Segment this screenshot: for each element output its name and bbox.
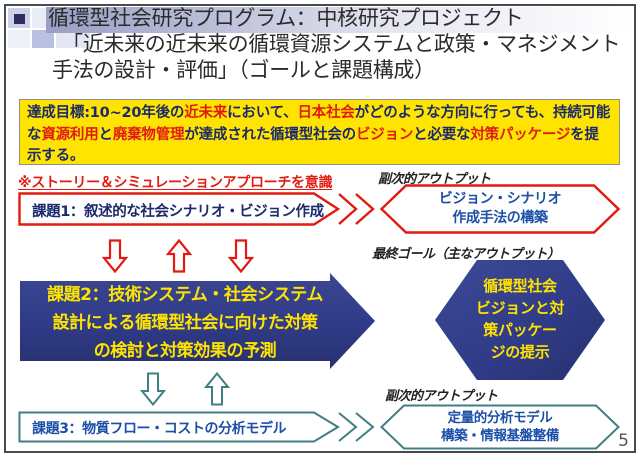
goal-line-3: 策パッケー (483, 321, 557, 339)
task2-label: 課題2：技術システム・社会システム 設計による循環型社会に向けた対策 の検討と対… (30, 281, 340, 365)
approach-note: ※ストーリー＆シミュレーションアプローチを意識 (18, 172, 332, 192)
goal-segment-6: と (99, 127, 113, 143)
goal-line-2: ビジョンと対 (476, 299, 564, 317)
output1-line-1: ビジョン・シナリオ (439, 191, 561, 207)
goal-segment-5: 資源利用 (41, 127, 98, 143)
task2-line-1: 課題2：技術システム・社会システム (47, 285, 323, 305)
goal-line-4: ジの提示 (491, 343, 550, 361)
output3-label: 定量的分析モデル 構築・情報基盤整備 (398, 409, 602, 445)
chevron-right-icon (336, 191, 384, 227)
goal-segment-3: 日本社会 (297, 105, 354, 121)
final-goal-label: 循環型社会 ビジョンと対 策パッケー ジの提示 (455, 275, 585, 363)
goal-segment-7: 廃棄物管理 (113, 127, 185, 143)
output1-label: ビジョン・シナリオ 作成手法の構築 (398, 190, 602, 228)
title-line-2: 「近未来の近未来の循環資源システムと政策・マネジメント (12, 31, 632, 57)
output3-line-1: 定量的分析モデル (448, 410, 553, 426)
task2-line-2: 設計による循環型社会に向けた対策 (52, 313, 317, 333)
goal-segment-0: 達成目標:10~20年後の (27, 105, 184, 121)
goal-segment-2: において、 (227, 105, 297, 121)
chevron-right-icon (336, 410, 384, 444)
goal-line-1: 循環型社会 (483, 277, 557, 295)
slide: 循環型社会研究プログラム：中核研究プロジェクト 「近未来の近未来の循環資源システ… (0, 0, 640, 457)
page-title: 循環型社会研究プログラム：中核研究プロジェクト 「近未来の近未来の循環資源システ… (12, 5, 632, 83)
arrow-down-icon (140, 372, 166, 406)
output1-line-2: 作成手法の構築 (452, 210, 547, 226)
task1-label: 課題1：叙述的な社会シナリオ・ビジョン作成 (32, 200, 332, 221)
goal-segment-8: が達成された循環型社会の (184, 127, 356, 143)
arrow-up-icon (204, 372, 230, 406)
goal-statement-box: 達成目標:10~20年後の近未来において、日本社会がどのような方向に行っても、持… (19, 99, 620, 165)
task2-line-3: の検討と対策効果の予測 (94, 341, 277, 361)
goal-segment-9: ビジョン (356, 127, 413, 143)
goal-segment-10: と必要な (413, 127, 470, 143)
goal-segment-11: 対策パッケージ (470, 127, 570, 143)
goal-segment-1: 近未来 (184, 105, 227, 121)
page-number: 5 (618, 431, 629, 451)
output3-line-2: 構築・情報基盤整備 (441, 428, 559, 444)
task3-label: 課題3：物質フロー・コストの分析モデル (32, 418, 332, 438)
title-line-1: 循環型社会研究プログラム：中核研究プロジェクト (12, 5, 632, 31)
title-line-3: 手法の設計・評価」（ゴールと課題構成） (12, 57, 632, 83)
arrow-up-icon (166, 239, 192, 273)
arrow-down-icon (228, 239, 254, 273)
arrow-down-icon (102, 239, 128, 273)
caption-sub-output-2: 副次的アウトプット (385, 385, 498, 404)
